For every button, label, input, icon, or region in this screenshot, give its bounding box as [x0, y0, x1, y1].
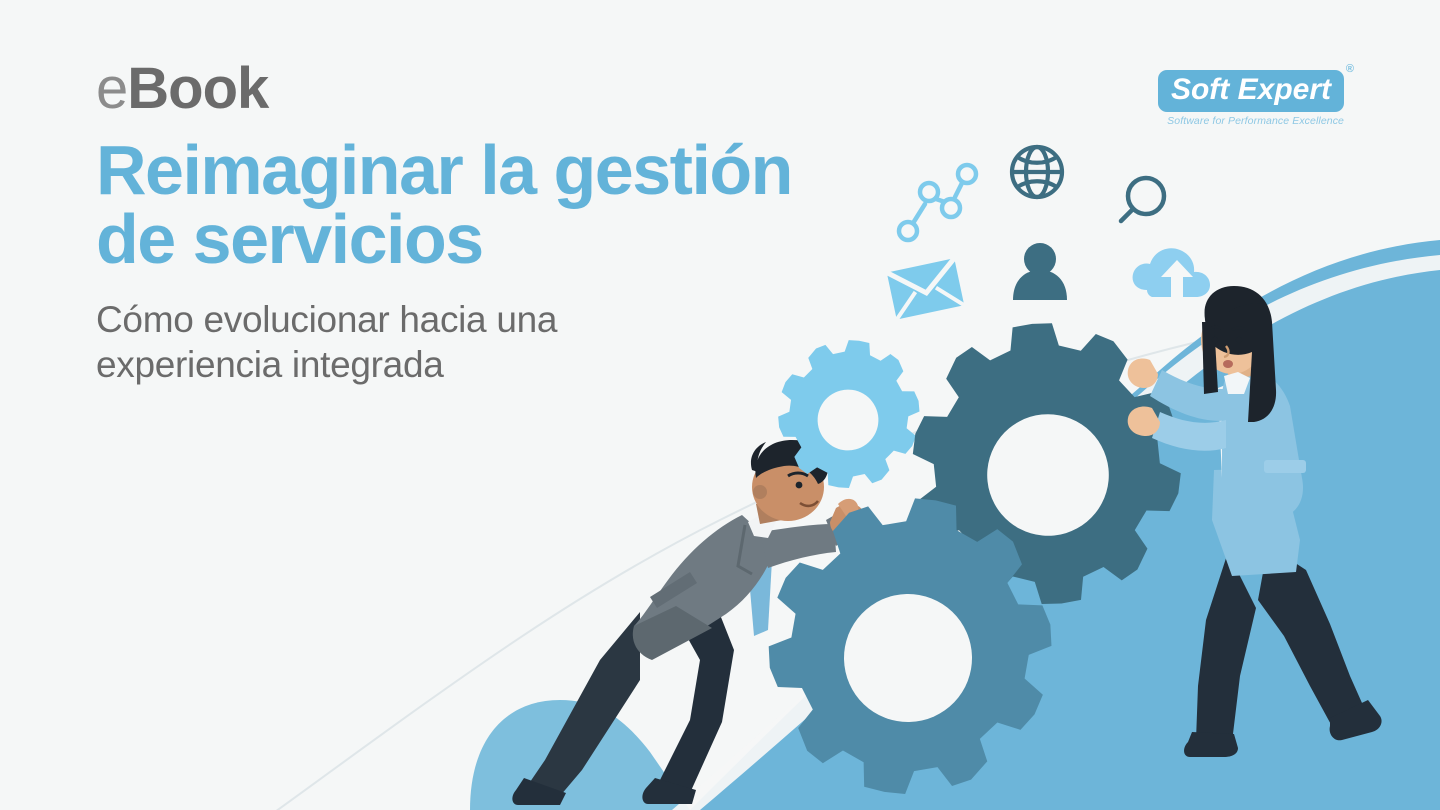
businesswoman-pushing-gear: [1128, 286, 1382, 757]
brand-logo[interactable]: Soft Expert ® Software for Performance E…: [1134, 70, 1344, 127]
envelope-icon: [887, 258, 964, 319]
floating-icons: [887, 147, 1210, 320]
ebook-label-bold: Book: [127, 56, 268, 121]
globe-icon: [1012, 147, 1062, 197]
page-title: Reimaginar la gestión de servicios: [96, 136, 856, 275]
cover-text-block: eBook Reimaginar la gestión de servicios…: [96, 60, 886, 387]
logo-wordmark: Soft Expert: [1171, 74, 1331, 106]
registered-trademark-icon: ®: [1346, 63, 1354, 75]
logo-badge: Soft Expert ®: [1158, 70, 1344, 112]
page-subtitle: Cómo evolucionar hacia una experiencia i…: [96, 297, 736, 387]
user-icon: [1013, 243, 1067, 300]
search-icon: [1121, 178, 1164, 221]
logo-tagline: Software for Performance Excellence: [1134, 115, 1344, 127]
network-chart-icon: [899, 165, 976, 240]
ebook-label-light: e: [96, 56, 127, 121]
ebook-cover: eBook Reimaginar la gestión de servicios…: [0, 0, 1440, 810]
ebook-label: eBook: [96, 60, 886, 118]
cloud-upload-icon: [1133, 248, 1210, 300]
